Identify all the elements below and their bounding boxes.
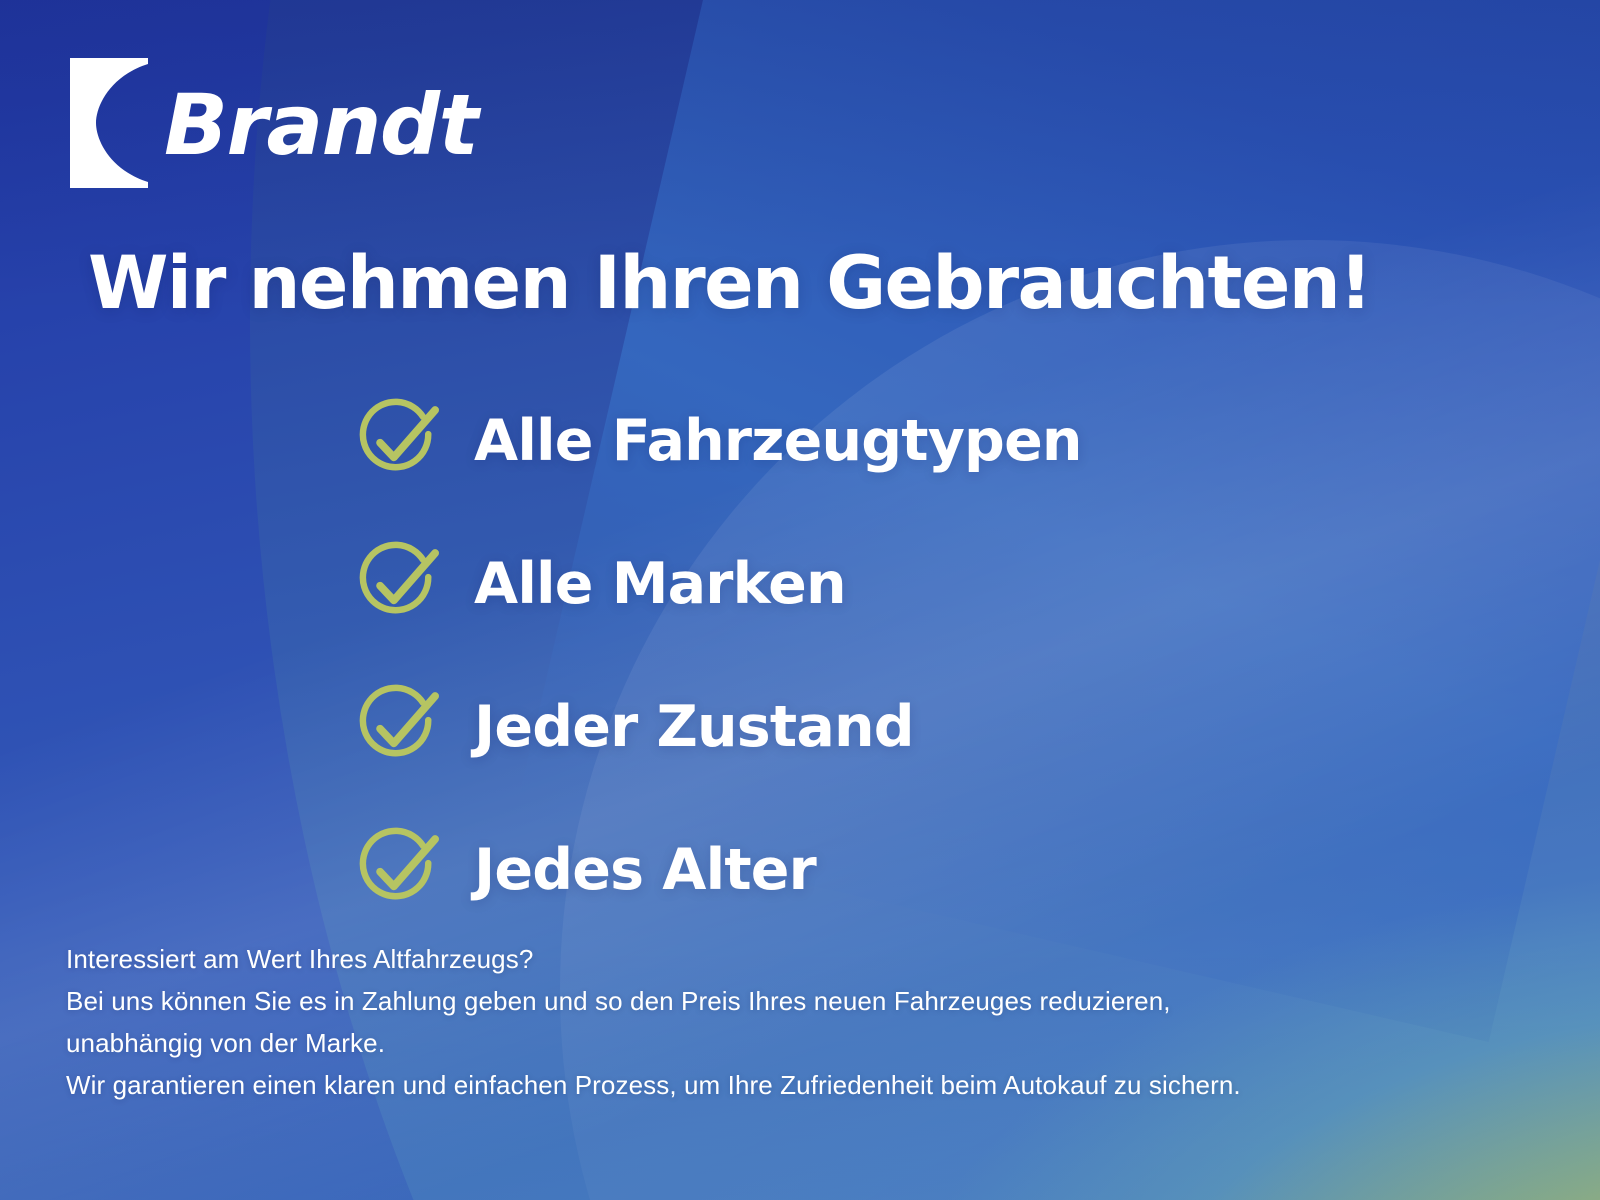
page-title: Wir nehmen Ihren Gebrauchten! (88, 246, 1371, 322)
bracket-c-mark-icon (70, 58, 148, 188)
description-line-1: Interessiert am Wert Ihres Altfahrzeugs? (66, 938, 1241, 980)
brand-logo[interactable]: Brandt (70, 58, 477, 188)
list-item-label: Alle Fahrzeugtypen (474, 413, 1082, 470)
promo-banner: Brandt Wir nehmen Ihren Gebrauchten! All… (0, 0, 1600, 1200)
brand-name: Brandt (164, 83, 477, 167)
description-line-3: unabhängig von der Marke. (66, 1022, 1241, 1064)
check-circle-icon (356, 827, 442, 913)
list-item-label: Alle Marken (474, 556, 846, 613)
list-item: Jeder Zustand (356, 684, 1082, 770)
check-circle-icon (356, 541, 442, 627)
description-paragraph: Interessiert am Wert Ihres Altfahrzeugs?… (66, 938, 1241, 1106)
description-line-4: Wir garantieren einen klaren und einfach… (66, 1064, 1241, 1106)
list-item: Alle Marken (356, 541, 1082, 627)
list-item-label: Jedes Alter (474, 842, 816, 899)
list-item-label: Jeder Zustand (474, 699, 914, 756)
check-circle-icon (356, 684, 442, 770)
feature-list: Alle Fahrzeugtypen Alle Marken Jeder Zus… (356, 398, 1082, 913)
banner-content: Brandt Wir nehmen Ihren Gebrauchten! All… (0, 0, 1600, 1200)
list-item: Alle Fahrzeugtypen (356, 398, 1082, 484)
list-item: Jedes Alter (356, 827, 1082, 913)
description-line-2: Bei uns können Sie es in Zahlung geben u… (66, 980, 1241, 1022)
check-circle-icon (356, 398, 442, 484)
